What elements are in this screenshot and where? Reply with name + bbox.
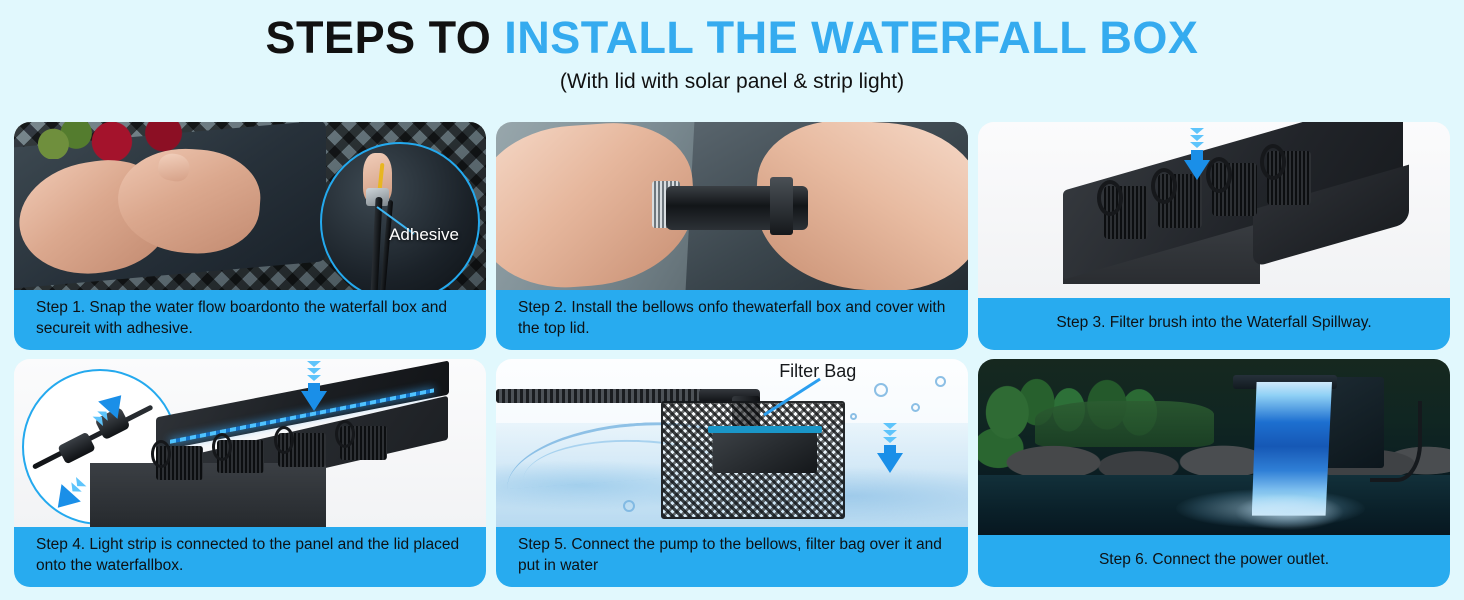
brush-handle-loop [274,426,294,454]
step-5-image: Filter Bag [496,359,968,527]
page-title-highlight: INSTALL THE WATERFALL BOX [504,12,1198,63]
step-card-2: Step 2. Install the bellows onfo thewate… [496,122,968,350]
page-title-prefix: STEPS TO [266,12,505,63]
step-3-caption: Step 3. Filter brush into the Waterfall … [978,298,1450,350]
step-card-4: Step 4. Light strip is connected to the … [14,359,486,587]
step-1-caption: Step 1. Snap the water flow boardonto th… [14,290,486,350]
adhesive-label: Adhesive [389,225,459,245]
filter-bag-leader-line [760,377,830,419]
water-pump [713,430,817,474]
step-2-image [496,122,968,290]
lawn-area [1035,401,1214,447]
brush-handle-loop [335,420,355,448]
step-2-caption: Step 2. Install the bellows onfo thewate… [496,290,968,350]
pump-collar [708,426,821,433]
bubble [874,383,888,397]
supply-hose [1370,401,1422,482]
brush-handle-loop [1260,144,1286,180]
box-front-face [90,463,326,527]
page-title: STEPS TO INSTALL THE WATERFALL BOX [0,14,1464,61]
bellows-flange [770,177,794,234]
bubble [935,376,946,387]
waterfall-box-render [1063,140,1403,284]
step-card-1: Adhesive Step 1. Snap the water flow boa… [14,122,486,350]
step-3-image [978,122,1450,298]
step-6-caption: Step 6. Connect the power outlet. [978,535,1450,587]
brush-handle-loop [151,440,171,468]
step-4-caption: Step 4. Light strip is connected to the … [14,527,486,587]
page-header: STEPS TO INSTALL THE WATERFALL BOX (With… [0,0,1464,94]
step-1-image: Adhesive [14,122,486,290]
step-card-3: Step 3. Filter brush into the Waterfall … [978,122,1450,350]
bubble [850,413,857,420]
water-ripple [1176,489,1365,528]
step-4-image [14,359,486,527]
step-card-5: Filter Bag Step 5. Connect the pump to t… [496,359,968,587]
brush-handle-loop [1097,180,1123,216]
adhesive-callout-circle: Adhesive [320,142,480,290]
thumb [156,152,191,184]
step-6-image [978,359,1450,535]
page-subtitle: (With lid with solar panel & strip light… [0,70,1464,94]
step-5-caption: Step 5. Connect the pump to the bellows,… [496,527,968,587]
filter-bag-label: Filter Bag [779,361,856,382]
steps-grid: Adhesive Step 1. Snap the water flow boa… [14,122,1450,587]
step-card-6: Step 6. Connect the power outlet. [978,359,1450,587]
